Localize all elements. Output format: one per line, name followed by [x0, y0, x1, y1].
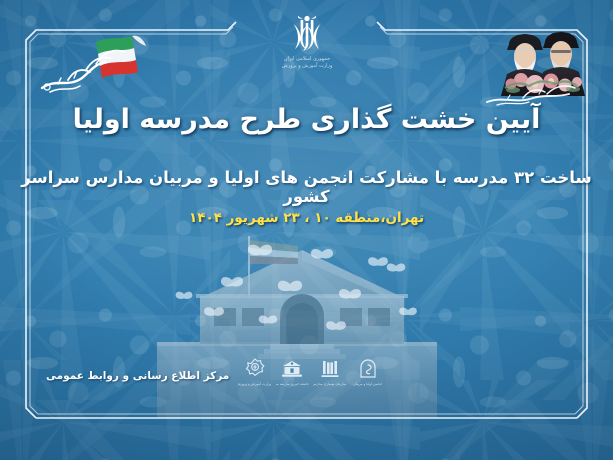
partner-label-3: انجمن اولیا و مربیان	[351, 382, 384, 387]
partner-label-0: وزارت آموزش و پرورش	[238, 382, 271, 387]
open-book-icon	[321, 361, 338, 377]
page-subtitle: ساخت ۳۲ مدرسه با مشارکت انجمن های اولیا …	[0, 168, 613, 206]
public-relations-note: مرکز اطلاع رسانی و روابط عمومی	[46, 370, 229, 382]
date-location-bar: تهران،منطقه ۱۰ ، ۲۳ شهریور ۱۴۰۴	[0, 207, 613, 226]
school-building-icon	[282, 361, 302, 377]
ministry-education-star-icon	[246, 359, 263, 375]
event-poster: جمهوری اسلامی ایران وزارت آموزش و پرورش	[0, 0, 613, 460]
date-location-text: تهران،منطقه ۱۰ ، ۲۳ شهریور ۱۴۰۴	[189, 210, 424, 226]
partner-logo-row: وزارت آموزش و پرورش جامعه خیرین مدرسه سا…	[238, 358, 384, 404]
partner-label-2: سازمان نوسازی مدارس	[313, 382, 346, 387]
leaders-portrait	[477, 18, 605, 110]
parents-association-icon	[361, 360, 375, 377]
iran-national-emblem: جمهوری اسلامی ایران وزارت آموزش و پرورش	[268, 12, 346, 84]
partner-logo-1: جامعه خیرین مدرسه ساز	[276, 358, 309, 387]
barayeh-iran-abadi-madreseh-logo	[34, 34, 152, 100]
emblem-line-1: جمهوری اسلامی ایران	[268, 56, 346, 63]
partner-logo-3: انجمن اولیا و مربیان	[351, 358, 384, 387]
partner-logo-2: سازمان نوسازی مدارس	[313, 358, 346, 387]
page-title: آیین خشت گذاری طرح مدرسه اولیا	[0, 104, 613, 135]
partner-logo-0: وزارت آموزش و پرورش	[238, 358, 271, 387]
partner-label-1: جامعه خیرین مدرسه ساز	[276, 382, 309, 387]
emblem-line-2: وزارت آموزش و پرورش	[268, 63, 346, 70]
